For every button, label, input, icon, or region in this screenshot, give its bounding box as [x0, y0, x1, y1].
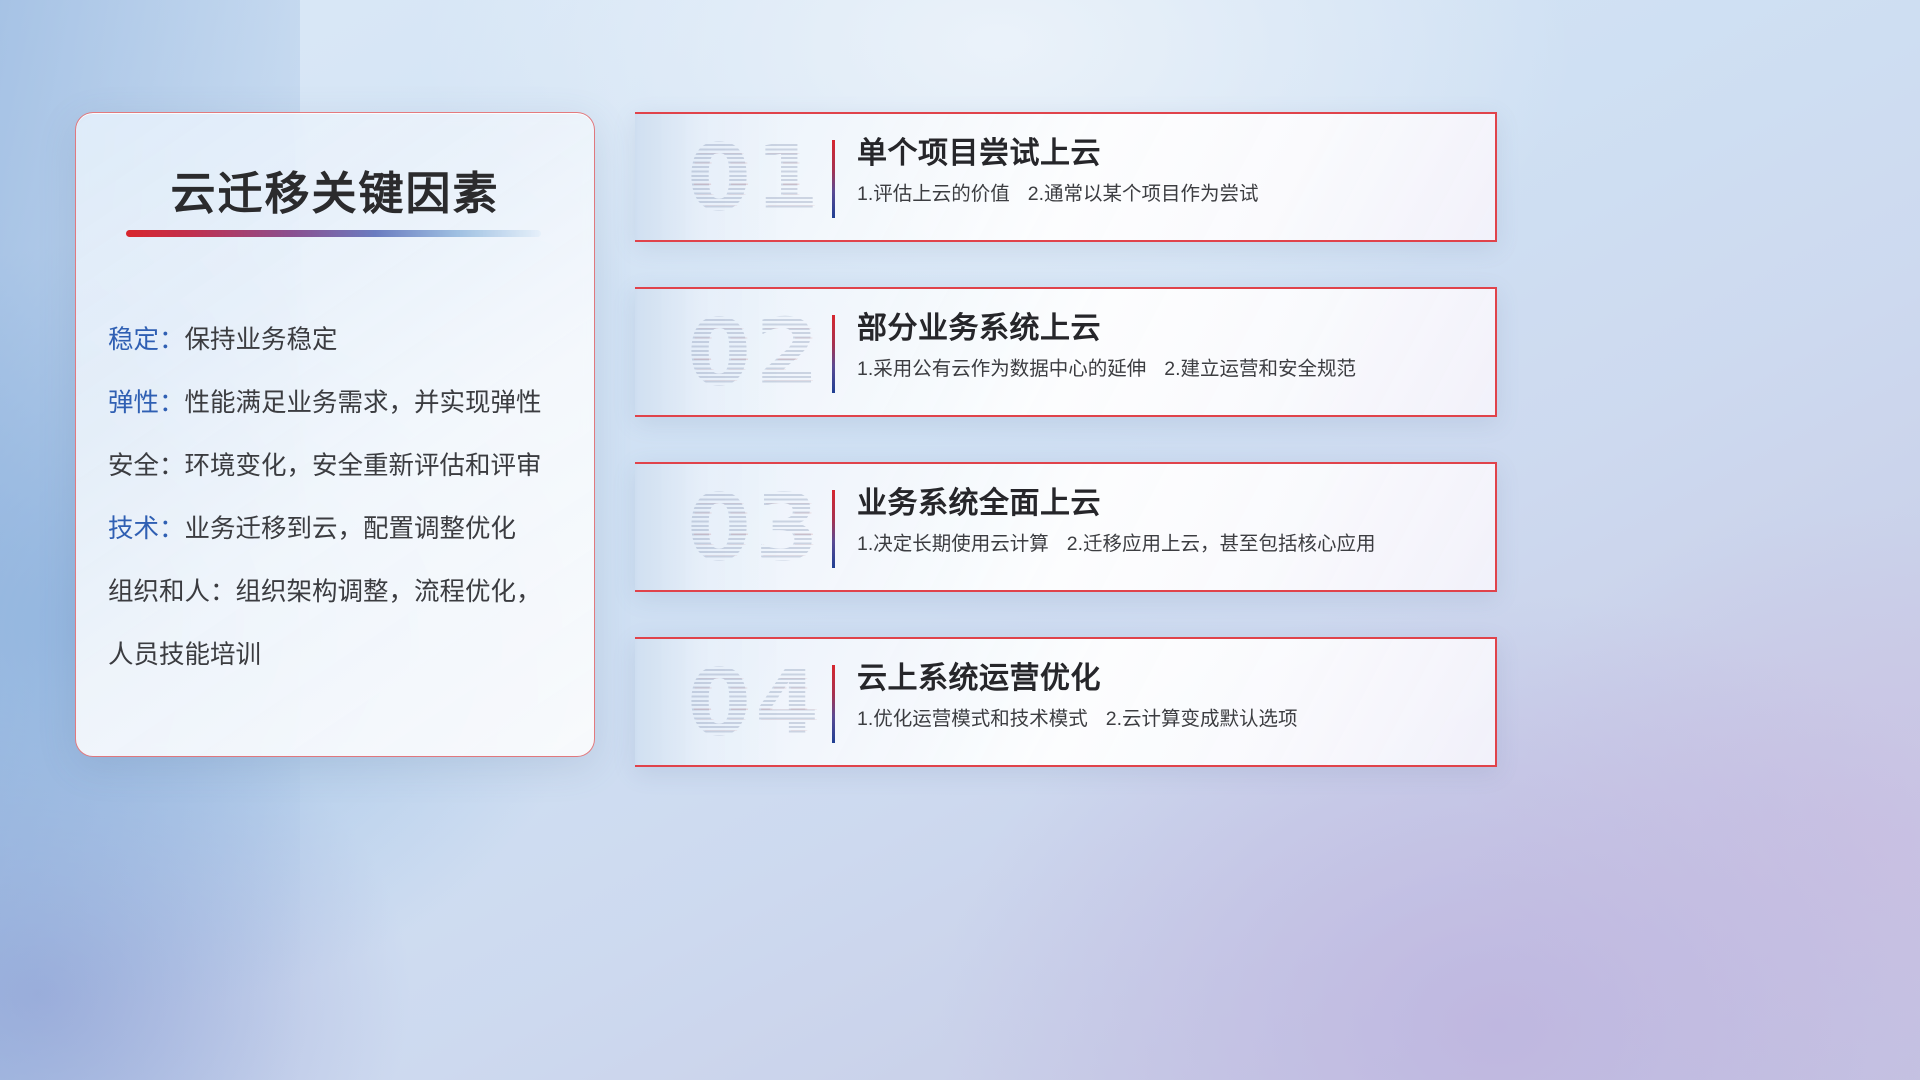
- factor-text: 保持业务稳定: [185, 326, 338, 354]
- stage-number-watermark: 01: [665, 122, 845, 234]
- factor-item: 安全：环境变化，安全重新评估和评审: [108, 435, 576, 498]
- card-description: 1.决定长期使用云计算2.迁移应用上云，甚至包括核心应用: [857, 526, 1471, 562]
- factor-text: 性能满足业务需求，并实现弹性: [185, 389, 542, 417]
- page-title: 云迁移关键因素: [76, 157, 594, 222]
- card-body: 云上系统运营优化1.优化运营模式和技术模式2.云计算变成默认选项: [857, 657, 1471, 737]
- factor-label: 组织和人：: [108, 578, 236, 606]
- factor-label: 技术：: [108, 515, 185, 543]
- stage-card[interactable]: 04云上系统运营优化1.优化运营模式和技术模式2.云计算变成默认选项: [635, 637, 1497, 767]
- accent-divider-bar: [832, 140, 835, 218]
- card-left-edge: [635, 637, 639, 767]
- card-left-edge: [635, 112, 639, 242]
- card-desc-item-2: 2.通常以某个项目作为尝试: [1028, 183, 1259, 205]
- factor-item: 弹性：性能满足业务需求，并实现弹性: [108, 372, 576, 435]
- card-desc-item-1: 1.评估上云的价值: [857, 183, 1010, 205]
- factor-item: 稳定：保持业务稳定: [108, 309, 576, 372]
- card-desc-item-1: 1.采用公有云作为数据中心的延伸: [857, 358, 1146, 380]
- stage-number-watermark: 02: [665, 297, 845, 409]
- card-title: 部分业务系统上云: [857, 307, 1471, 351]
- card-desc-item-1: 1.决定长期使用云计算: [857, 533, 1049, 555]
- card-description: 1.采用公有云作为数据中心的延伸2.建立运营和安全规范: [857, 351, 1471, 387]
- accent-divider-bar: [832, 315, 835, 393]
- card-description: 1.评估上云的价值2.通常以某个项目作为尝试: [857, 176, 1471, 212]
- accent-divider-bar: [832, 490, 835, 568]
- key-factors-panel: 云迁移关键因素 稳定：保持业务稳定弹性：性能满足业务需求，并实现弹性安全：环境变…: [75, 112, 595, 757]
- card-desc-item-1: 1.优化运营模式和技术模式: [857, 708, 1088, 730]
- factor-text: 环境变化，安全重新评估和评审: [185, 452, 542, 480]
- stage-number-watermark: 03: [665, 472, 845, 584]
- card-body: 业务系统全面上云1.决定长期使用云计算2.迁移应用上云，甚至包括核心应用: [857, 482, 1471, 562]
- card-title: 云上系统运营优化: [857, 657, 1471, 701]
- stage-card-list: 01单个项目尝试上云1.评估上云的价值2.通常以某个项目作为尝试02部分业务系统…: [635, 112, 1497, 767]
- card-description: 1.优化运营模式和技术模式2.云计算变成默认选项: [857, 701, 1471, 737]
- stage-number-watermark: 04: [665, 647, 845, 759]
- card-left-edge: [635, 287, 639, 417]
- stage-card[interactable]: 01单个项目尝试上云1.评估上云的价值2.通常以某个项目作为尝试: [635, 112, 1497, 242]
- card-desc-item-2: 2.迁移应用上云，甚至包括核心应用: [1067, 533, 1376, 555]
- factor-label: 稳定：: [108, 326, 185, 354]
- title-underline-gradient: [126, 230, 541, 237]
- factor-list: 稳定：保持业务稳定弹性：性能满足业务需求，并实现弹性安全：环境变化，安全重新评估…: [108, 309, 576, 687]
- card-title: 业务系统全面上云: [857, 482, 1471, 526]
- factor-item: 技术：业务迁移到云，配置调整优化: [108, 498, 576, 561]
- card-title: 单个项目尝试上云: [857, 132, 1471, 176]
- card-left-edge: [635, 462, 639, 592]
- slide-canvas: 云迁移关键因素 稳定：保持业务稳定弹性：性能满足业务需求，并实现弹性安全：环境变…: [0, 0, 1920, 1080]
- factor-label: 安全：: [108, 452, 185, 480]
- accent-divider-bar: [832, 665, 835, 743]
- stage-card[interactable]: 02部分业务系统上云1.采用公有云作为数据中心的延伸2.建立运营和安全规范: [635, 287, 1497, 417]
- factor-label: 弹性：: [108, 389, 185, 417]
- factor-item: 人员技能培训: [108, 624, 576, 687]
- stage-card[interactable]: 03业务系统全面上云1.决定长期使用云计算2.迁移应用上云，甚至包括核心应用: [635, 462, 1497, 592]
- factor-text: 人员技能培训: [108, 641, 261, 669]
- card-body: 单个项目尝试上云1.评估上云的价值2.通常以某个项目作为尝试: [857, 132, 1471, 212]
- factor-item: 组织和人：组织架构调整，流程优化，: [108, 561, 576, 624]
- card-body: 部分业务系统上云1.采用公有云作为数据中心的延伸2.建立运营和安全规范: [857, 307, 1471, 387]
- card-desc-item-2: 2.建立运营和安全规范: [1164, 358, 1356, 380]
- card-desc-item-2: 2.云计算变成默认选项: [1106, 708, 1298, 730]
- factor-text: 业务迁移到云，配置调整优化: [185, 515, 517, 543]
- factor-text: 组织架构调整，流程优化，: [236, 578, 542, 606]
